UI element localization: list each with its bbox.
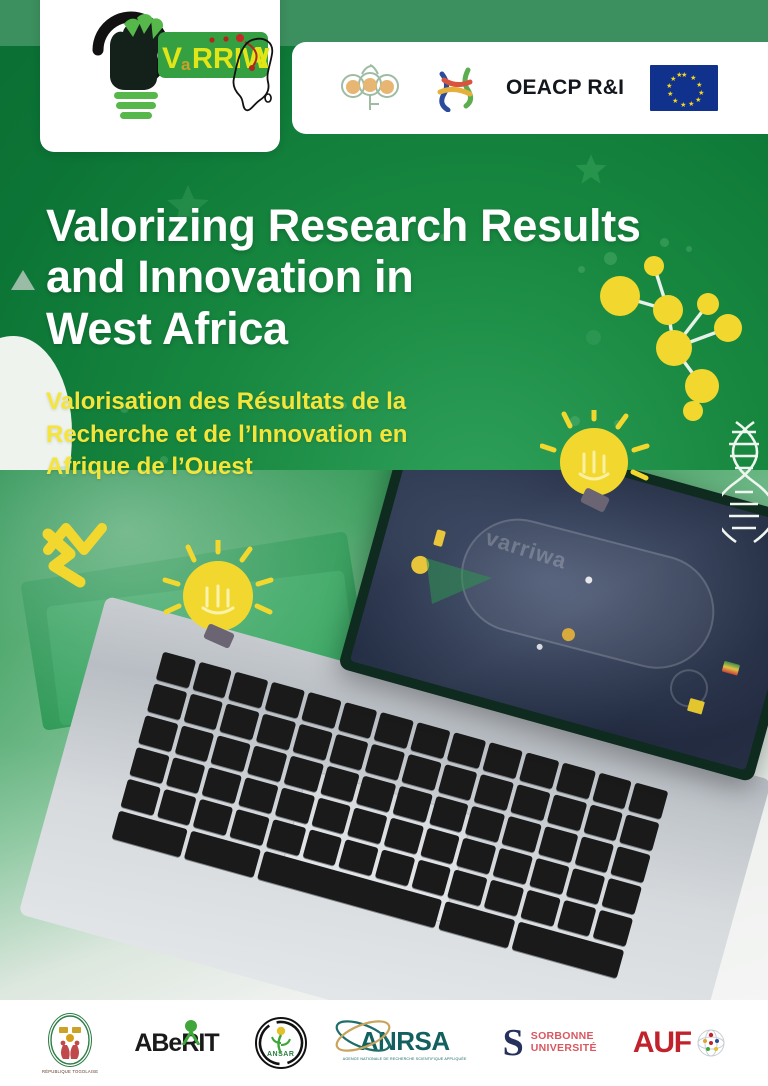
page-title: Valorizing Research Results and Innovati… <box>46 200 706 354</box>
varriwa-logo-card[interactable]: V a RRIW A <box>40 0 280 152</box>
sorbonne-s-icon: S <box>503 1028 524 1058</box>
footer-logo-ansar[interactable]: ANSAR <box>255 1012 307 1074</box>
title-line: West Africa <box>46 303 706 354</box>
varriwa-logo-icon: V a RRIW A <box>40 0 280 152</box>
sorbonne-label: SORBONNE UNIVERSITÉ <box>531 1031 597 1055</box>
decor-dot <box>614 420 621 427</box>
title-line: and Innovation in <box>46 251 706 302</box>
subtitle-line: Valorisation des Résultats de la <box>46 386 516 419</box>
oeacp-logo-icon <box>434 64 480 112</box>
laptop: varriwa <box>300 470 768 980</box>
footer-logo-anrsa[interactable]: ANRSA AGENCE NATIONALE DE RECHERCHE SCIE… <box>343 1012 467 1074</box>
togo-caption: RÉPUBLIQUE TOGOLAISE <box>42 1069 98 1074</box>
aberit-figure-icon <box>178 1019 204 1045</box>
aberit-label: ABeRIT <box>134 1029 218 1058</box>
auf-label: AUF <box>633 1026 691 1060</box>
togo-coat-of-arms-icon <box>48 1013 92 1067</box>
subtitle-line: Afrique de l’Ouest <box>46 451 516 484</box>
footer-logo-aberit[interactable]: ABeRIT <box>134 1012 218 1074</box>
svg-text:a: a <box>181 55 191 74</box>
poster-root: varriwa <box>0 0 768 1086</box>
oacps-logo-icon <box>332 62 408 114</box>
oeacp-label: OEACP R&I <box>506 76 624 100</box>
subtitle-line: Recherche et de l’Innovation en <box>46 419 516 452</box>
decor-dot <box>570 416 580 426</box>
footer-logo-republique-togolaise[interactable]: RÉPUBLIQUE TOGOLAISE <box>42 1012 98 1074</box>
decor-dot <box>596 438 602 444</box>
laptop-photo: varriwa <box>0 470 768 1005</box>
page-subtitle: Valorisation des Résultats de la Recherc… <box>46 386 516 484</box>
auf-globe-icon <box>696 1028 726 1058</box>
title-line: Valorizing Research Results <box>46 200 706 251</box>
svg-text:V: V <box>162 42 182 75</box>
anrsa-atom-icon <box>331 1014 395 1058</box>
european-union-flag-icon: ★ ★ ★ ★ ★ ★ ★ ★ ★ ★ ★ ★ <box>650 65 718 111</box>
sorbonne-label-line2: UNIVERSITÉ <box>531 1043 597 1055</box>
ansar-circle-icon: ANSAR <box>255 1017 307 1069</box>
footer-logo-bar: RÉPUBLIQUE TOGOLAISE ABeRIT ANSA <box>0 1000 768 1086</box>
footer-logo-auf[interactable]: AUF <box>633 1012 726 1074</box>
partner-logo-bar: OEACP R&I ★ ★ ★ ★ ★ ★ ★ ★ ★ ★ ★ ★ <box>292 42 768 134</box>
footer-logo-sorbonne-universite[interactable]: S SORBONNE UNIVERSITÉ <box>503 1012 597 1074</box>
